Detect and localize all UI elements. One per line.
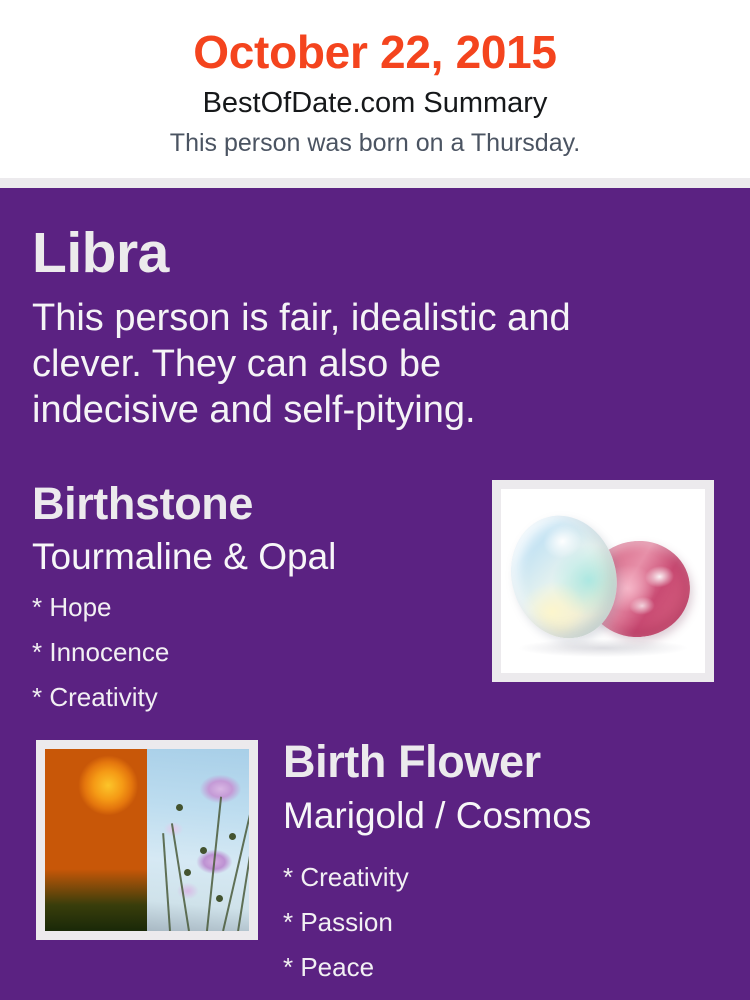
- birthstone-title: Birthstone: [32, 477, 253, 531]
- flower-bud: [229, 833, 236, 840]
- flower-bud: [200, 847, 207, 854]
- header-divider: [0, 178, 750, 188]
- cosmos-photo-panel: [147, 749, 249, 931]
- gem-shadow: [519, 639, 687, 657]
- birthflower-title: Birth Flower: [283, 735, 541, 789]
- site-summary-label: BestOfDate.com Summary: [0, 85, 750, 121]
- flower-stem: [237, 816, 249, 931]
- list-item: * Passion: [283, 900, 713, 945]
- birthflower-names: Marigold / Cosmos: [283, 793, 591, 839]
- birthstone-traits-list: * Hope * Innocence * Creativity: [32, 585, 462, 720]
- birthstone-photo: [501, 489, 705, 673]
- list-item: * Peace: [283, 945, 713, 990]
- birthflower-traits-list: * Creativity * Passion * Peace: [283, 855, 713, 990]
- flower-stem: [206, 797, 222, 931]
- birthflower-image-frame: [36, 740, 258, 940]
- flower-bud: [184, 869, 191, 876]
- summary-page: October 22, 2015 BestOfDate.com Summary …: [0, 0, 750, 1000]
- zodiac-sign-title: Libra: [32, 222, 169, 284]
- flower-stem: [171, 823, 190, 931]
- flower-bud: [216, 895, 223, 902]
- list-item: * Hope: [32, 585, 462, 630]
- page-header: October 22, 2015 BestOfDate.com Summary …: [0, 0, 750, 178]
- zodiac-description: This person is fair, idealistic and clev…: [32, 295, 612, 433]
- born-day-note: This person was born on a Thursday.: [0, 127, 750, 159]
- flower-stem: [222, 807, 249, 931]
- birthstone-names: Tourmaline & Opal: [32, 534, 336, 580]
- list-item: * Creativity: [32, 675, 462, 720]
- flower-stem: [163, 833, 172, 931]
- page-title-date: October 22, 2015: [0, 24, 750, 80]
- marigold-photo-panel: [45, 749, 147, 931]
- birthstone-image-frame: [492, 480, 714, 682]
- flower-bud: [176, 804, 183, 811]
- birthflower-photo: [45, 749, 249, 931]
- list-item: * Creativity: [283, 855, 713, 900]
- list-item: * Innocence: [32, 630, 462, 675]
